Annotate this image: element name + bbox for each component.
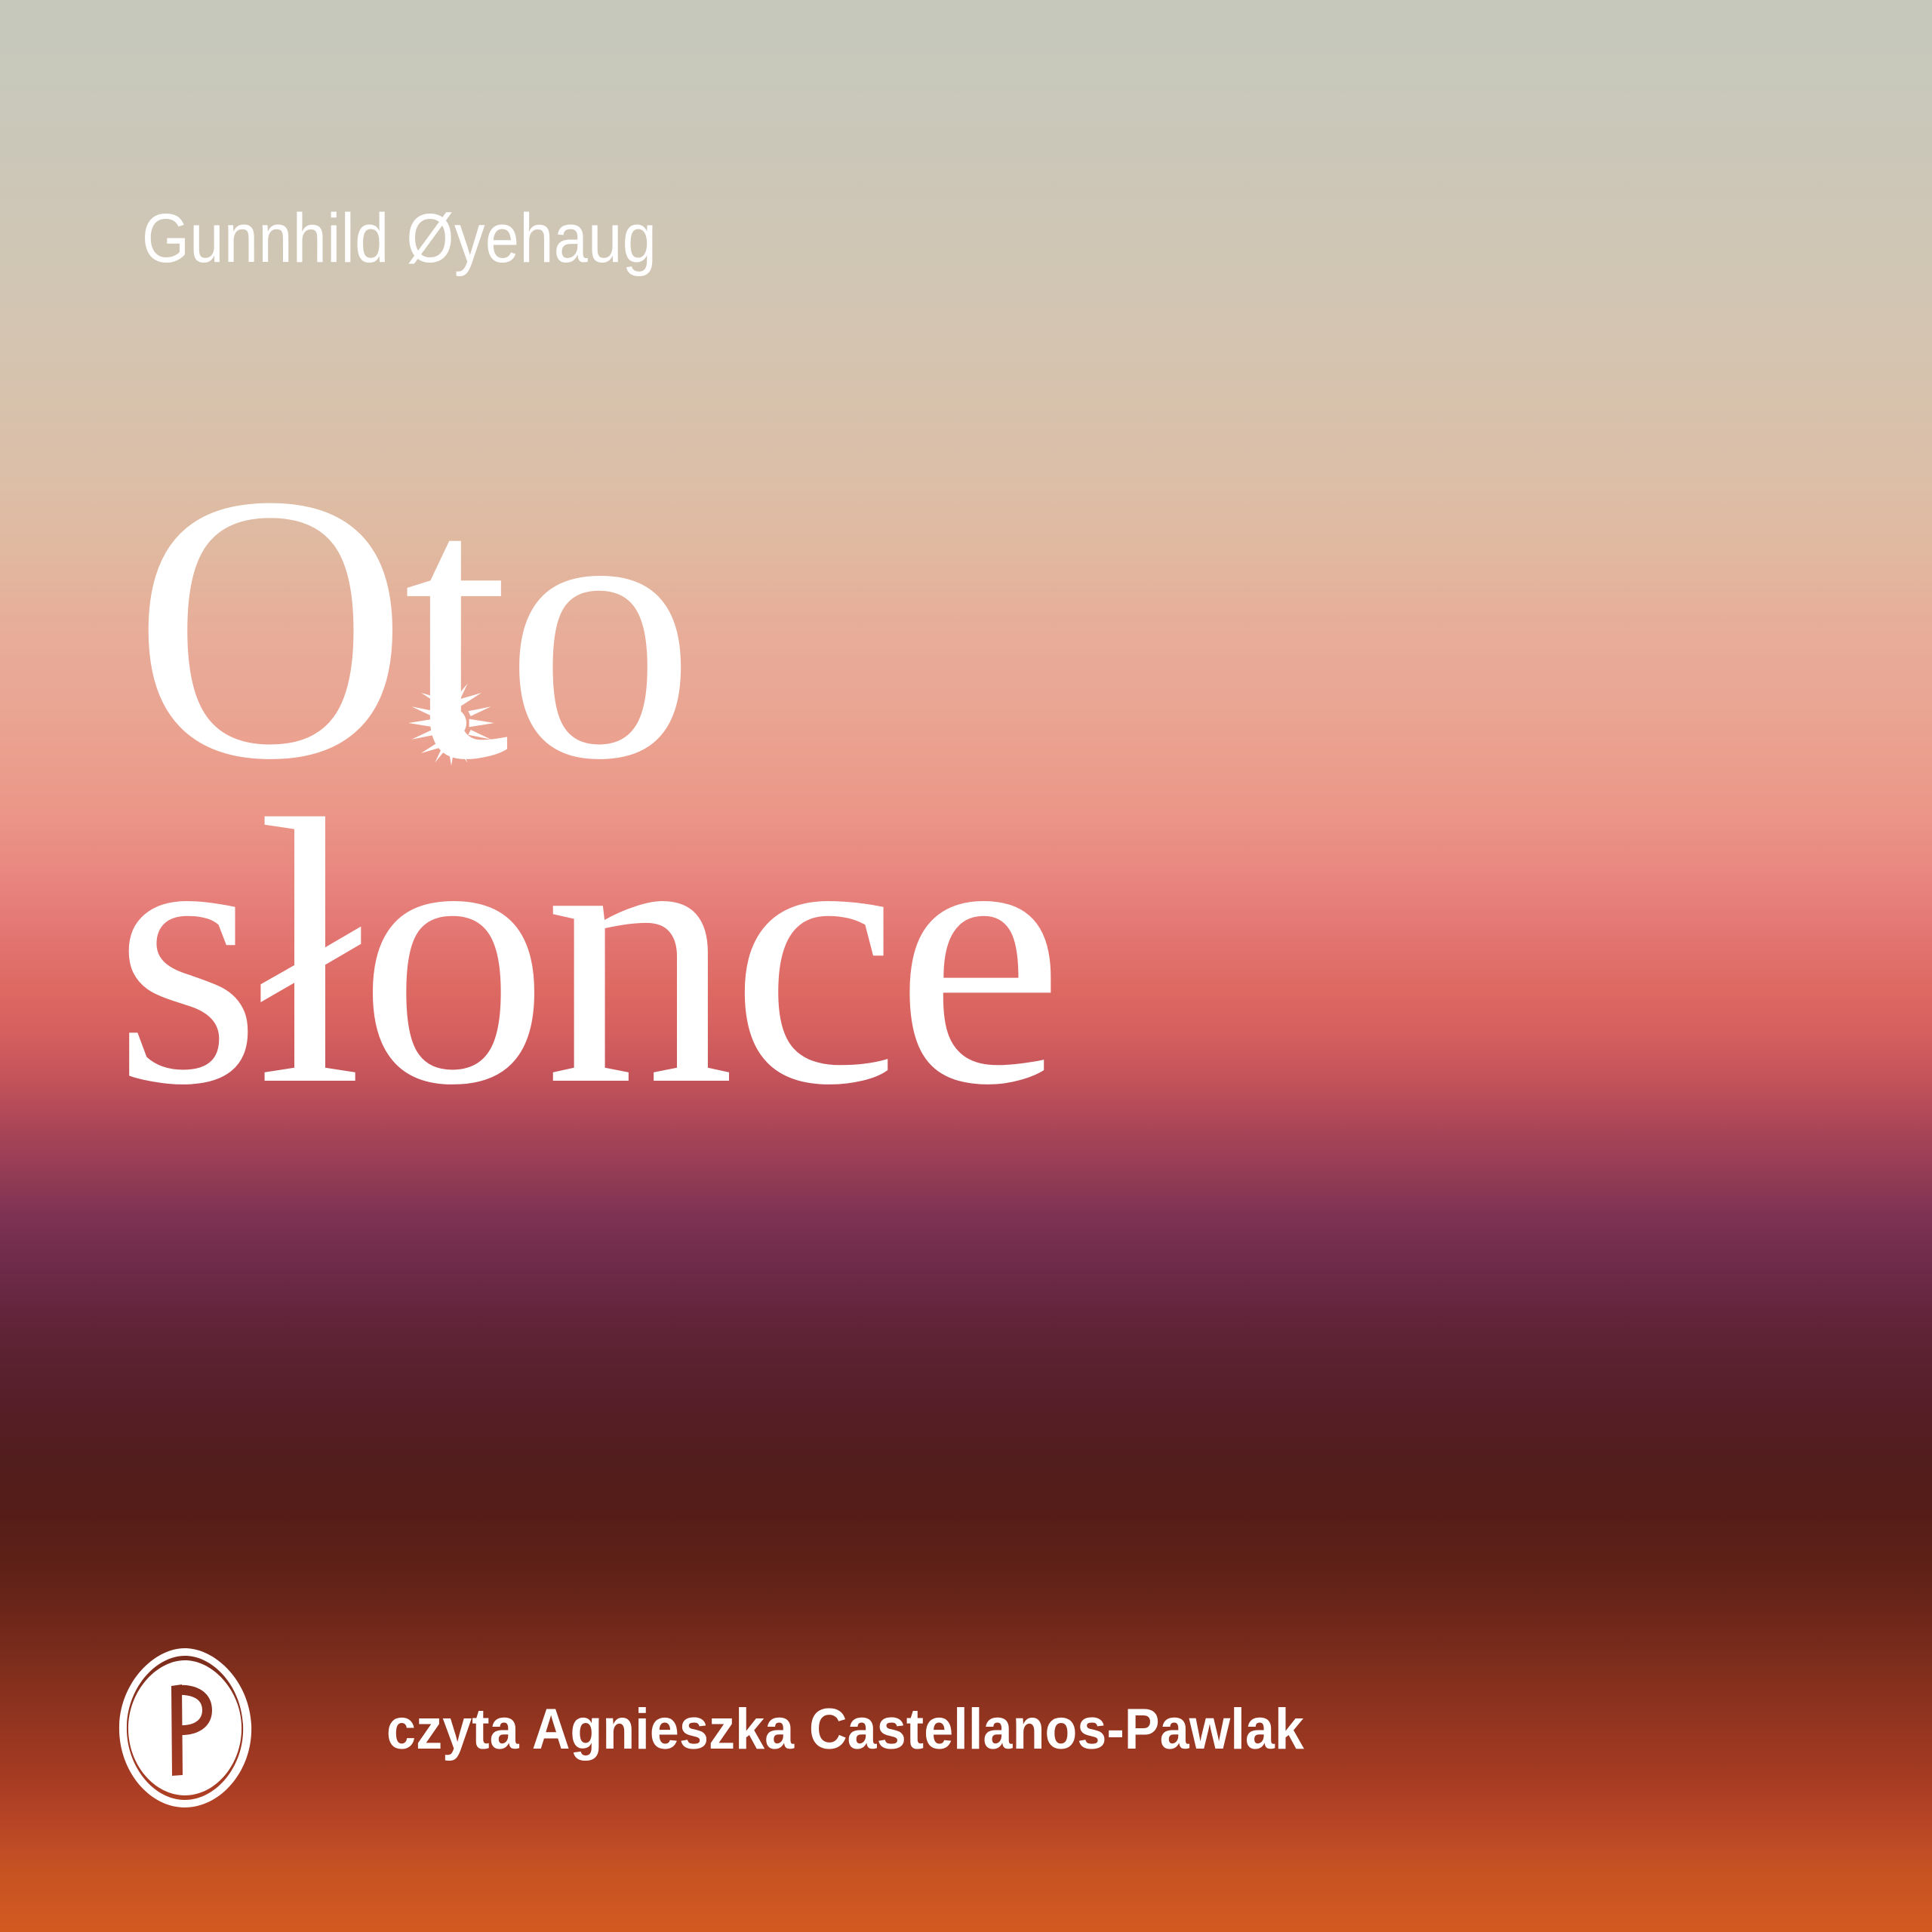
publisher-circle-p-icon <box>117 1647 253 1809</box>
title-line-2: sło <box>113 778 1623 1129</box>
title-block: Oto sło <box>113 453 1623 1128</box>
book-cover: Gunnhild Øyehaug Oto sło <box>0 0 1932 1932</box>
title-glyph-s: s <box>113 742 257 1164</box>
author-name: Gunnhild Øyehaug <box>142 202 657 275</box>
narrator-credit: czyta Agnieszka Castellanos-Pawlak <box>386 1697 1304 1762</box>
title-glyph-o: o <box>358 742 544 1164</box>
title-glyph-lslash: ł <box>257 742 358 1164</box>
title-sun-letter-group: o <box>358 778 544 1129</box>
title-glyph-nce: nce <box>544 742 1060 1164</box>
